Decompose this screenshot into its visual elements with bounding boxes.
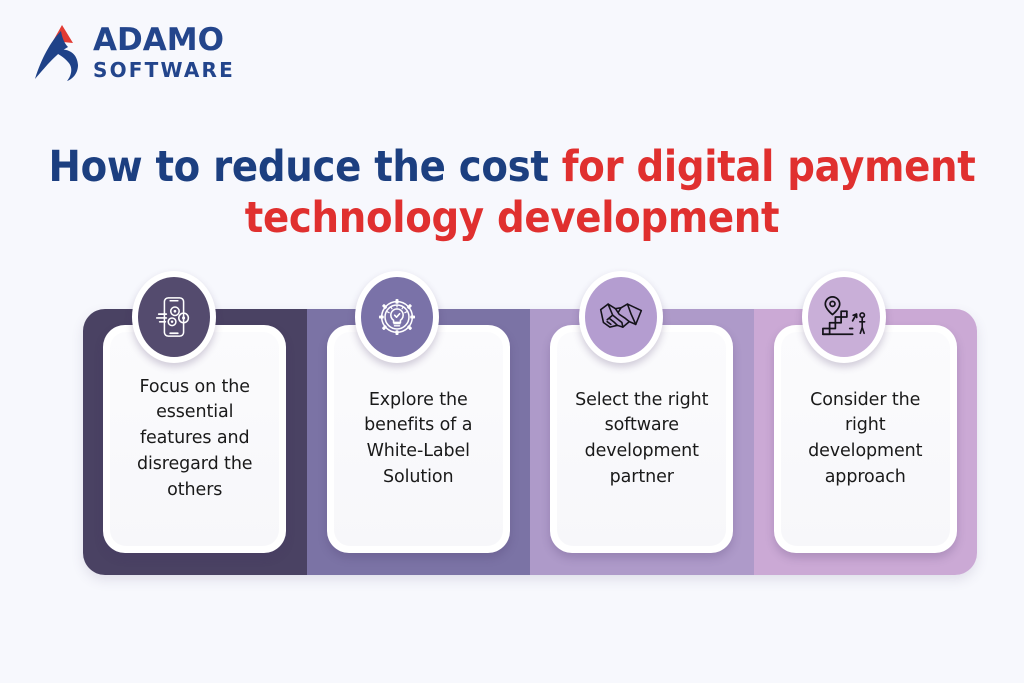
- step-card-list: Focus on the essential features and disr…: [83, 271, 977, 575]
- step-card-inner: Consider the right development approach: [781, 332, 950, 546]
- step-icon-badge: [579, 271, 663, 363]
- step-item: Explore the benefits of a White-Label So…: [307, 271, 531, 575]
- step-card-text: Explore the benefits of a White-Label So…: [342, 388, 495, 491]
- step-icon-badge: [355, 271, 439, 363]
- smartphone-gears-icon: [151, 294, 197, 340]
- adamo-swoosh-logo-icon: [31, 21, 83, 83]
- brand-wordmark: ADAMO SOFTWARE: [93, 25, 235, 80]
- page-title-part1: How to reduce the cost: [49, 142, 549, 192]
- step-card-inner: Select the right software development pa…: [557, 332, 726, 546]
- step-item: Focus on the essential features and disr…: [83, 271, 307, 575]
- brand-name-secondary: SOFTWARE: [93, 60, 235, 80]
- step-icon-disc: [138, 277, 210, 357]
- step-item: Select the right software development pa…: [530, 271, 754, 575]
- page-title: How to reduce the cost for digital payme…: [0, 142, 1024, 243]
- step-card-text: Select the right software development pa…: [565, 388, 718, 491]
- step-icon-disc: [361, 277, 433, 357]
- step-card-text: Focus on the essential features and disr…: [118, 375, 271, 504]
- step-card-inner: Explore the benefits of a White-Label So…: [334, 332, 503, 546]
- lightbulb-gear-check-icon: [374, 294, 420, 340]
- step-card: Select the right software development pa…: [550, 325, 733, 553]
- step-icon-badge: [802, 271, 886, 363]
- step-card: Consider the right development approach: [774, 325, 957, 553]
- step-icon-badge: [132, 271, 216, 363]
- step-card-text: Consider the right development approach: [789, 388, 942, 491]
- step-card-inner: Focus on the essential features and disr…: [110, 332, 279, 546]
- brand-logo: ADAMO SOFTWARE: [31, 21, 235, 83]
- brand-name-primary: ADAMO: [93, 25, 235, 56]
- step-item: Consider the right development approach: [754, 271, 978, 575]
- step-icon-disc: [585, 277, 657, 357]
- step-card: Focus on the essential features and disr…: [103, 325, 286, 553]
- step-card: Explore the benefits of a White-Label So…: [327, 325, 510, 553]
- step-icon-disc: [808, 277, 880, 357]
- handshake-icon: [597, 295, 645, 339]
- stairs-goal-pin-icon: [820, 294, 868, 340]
